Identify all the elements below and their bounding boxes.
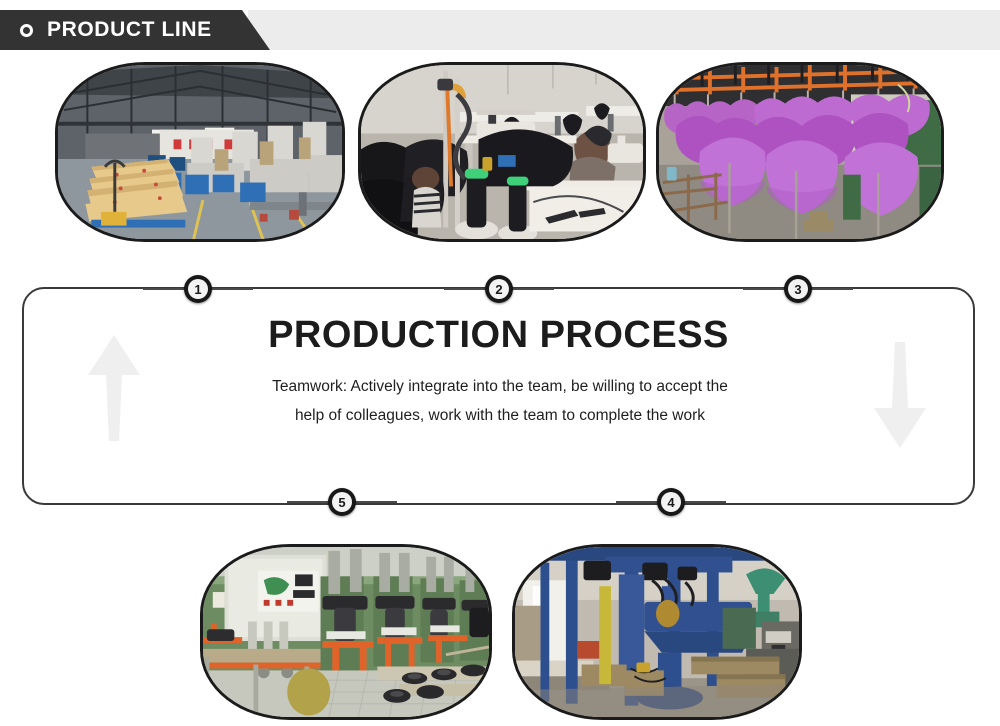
process-description: Teamwork: Actively integrate into the te… <box>265 372 735 430</box>
page-title: PRODUCT LINE <box>47 18 212 42</box>
sewing-workshop-illustration <box>361 65 643 241</box>
circle-ring-icon <box>20 24 33 37</box>
press-line-illustration <box>203 547 489 719</box>
photo-warehouse <box>55 62 345 242</box>
marker-disc: 1 <box>184 275 212 303</box>
page-header: PRODUCT LINE <box>0 10 1000 50</box>
process-marker-3: 3 <box>743 274 853 304</box>
header-gray-bar <box>248 10 1000 50</box>
photo-injection-machine <box>512 544 802 720</box>
marker-disc: 3 <box>784 275 812 303</box>
injection-machine-illustration <box>515 547 799 719</box>
foam-racks-illustration <box>659 65 941 241</box>
process-marker-5: 5 <box>287 487 397 517</box>
marker-number: 2 <box>495 283 502 296</box>
photo-press-line <box>200 544 492 720</box>
header-tab: PRODUCT LINE <box>0 10 270 50</box>
photo-foam-racks <box>656 62 944 242</box>
process-title: PRODUCTION PROCESS <box>22 314 975 357</box>
marker-number: 5 <box>338 496 345 509</box>
marker-disc: 5 <box>328 488 356 516</box>
marker-number: 3 <box>794 283 801 296</box>
marker-disc: 4 <box>657 488 685 516</box>
process-marker-2: 2 <box>444 274 554 304</box>
marker-disc: 2 <box>485 275 513 303</box>
marker-number: 1 <box>194 283 201 296</box>
process-marker-1: 1 <box>143 274 253 304</box>
process-marker-4: 4 <box>616 487 726 517</box>
photo-sewing <box>358 62 646 242</box>
warehouse-illustration <box>58 65 342 241</box>
marker-number: 4 <box>667 496 674 509</box>
